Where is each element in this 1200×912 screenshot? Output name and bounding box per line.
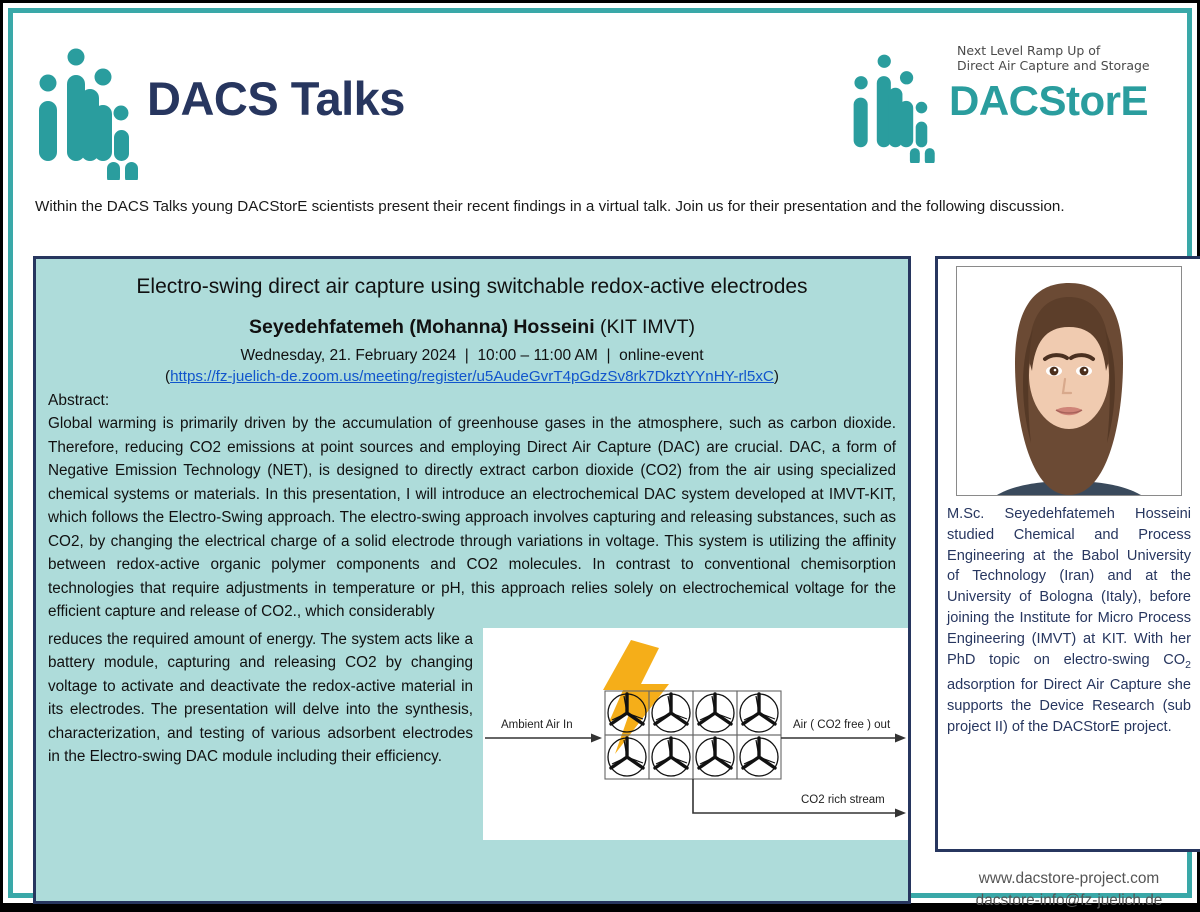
module-cell: [605, 735, 649, 779]
speaker-bio: M.Sc. Seyedehfatemeh Hosseini studied Ch…: [947, 504, 1191, 738]
diagram-inlet-label: Ambient Air In: [501, 719, 573, 731]
event-format: online-event: [619, 347, 703, 364]
registration-line: (https://fz-juelich-de.zoom.us/meeting/r…: [36, 368, 908, 385]
event-sep-1: |: [465, 347, 469, 364]
poster-header: DACS Talks Next Level Ramp Up of: [23, 23, 1177, 193]
bio-text-after: adsorption for Direct Air Capture she su…: [947, 677, 1191, 735]
talk-title: Electro-swing direct air capture using s…: [36, 275, 908, 299]
event-details: Wednesday, 21. February 2024 | 10:00 – 1…: [36, 347, 908, 365]
intro-paragraph: Within the DACS Talks young DACStorE sci…: [35, 195, 1065, 219]
dacstore-logo: Next Level Ramp Up of Direct Air Capture…: [839, 37, 1159, 157]
speaker-affiliation: (KIT IMVT): [595, 316, 695, 338]
dacstore-tagline: Next Level Ramp Up of Direct Air Capture…: [957, 43, 1150, 73]
contact-email[interactable]: dacstore-info@fz-juelich.de: [935, 890, 1200, 912]
speaker-line: Seyedehfatemeh (Mohanna) Hosseini (KIT I…: [36, 316, 908, 339]
event-date: Wednesday, 21. February 2024: [240, 347, 456, 364]
contact-block: www.dacstore-project.com dacstore-info@f…: [935, 868, 1200, 912]
teal-border-frame: DACS Talks Next Level Ramp Up of: [8, 8, 1192, 898]
paren-close: ): [774, 368, 779, 385]
process-diagram: Ambient Air In: [483, 628, 908, 840]
module-cell: [737, 735, 781, 779]
diagram-bottom-label: CO2 rich stream: [801, 794, 885, 806]
abstract-part-1: Global warming is primarily driven by th…: [48, 412, 896, 624]
abstract-label: Abstract:: [48, 392, 908, 410]
poster-content: DACS Talks Next Level Ramp Up of: [23, 23, 1177, 883]
dacstore-bars-logo-icon: [839, 43, 951, 163]
bio-text-before: M.Sc. Seyedehfatemeh Hosseini studied Ch…: [947, 506, 1191, 668]
dacstore-tagline-line2: Direct Air Capture and Storage: [957, 58, 1150, 73]
talk-panel: Electro-swing direct air capture using s…: [33, 256, 911, 904]
event-time: 10:00 – 11:00 AM: [477, 347, 597, 364]
speaker-panel: M.Sc. Seyedehfatemeh Hosseini studied Ch…: [935, 256, 1200, 852]
dacstore-tagline-line1: Next Level Ramp Up of: [957, 43, 1150, 58]
dacs-talks-logo: [35, 35, 143, 185]
dacstore-wordmark: DACStorE: [949, 77, 1148, 125]
module-cell: [693, 691, 737, 735]
module-cell: [649, 735, 693, 779]
registration-link[interactable]: https://fz-juelich-de.zoom.us/meeting/re…: [170, 368, 774, 385]
poster-page: DACS Talks Next Level Ramp Up of: [0, 0, 1200, 906]
brand-title: DACS Talks: [147, 71, 405, 126]
speaker-portrait-icon: [957, 267, 1181, 495]
speaker-photo: [956, 266, 1182, 496]
contact-website[interactable]: www.dacstore-project.com: [935, 868, 1200, 890]
module-cell: [693, 735, 737, 779]
speaker-name: Seyedehfatemeh (Mohanna) Hosseini: [249, 316, 595, 338]
dacs-bars-logo-icon: [35, 35, 143, 180]
diagram-outlet-label: Air ( CO2 free ) out: [793, 719, 891, 731]
event-sep-2: |: [606, 347, 610, 364]
module-cell: [737, 691, 781, 735]
process-diagram-svg: Ambient Air In: [483, 628, 908, 840]
bio-subscript: 2: [1185, 658, 1191, 670]
